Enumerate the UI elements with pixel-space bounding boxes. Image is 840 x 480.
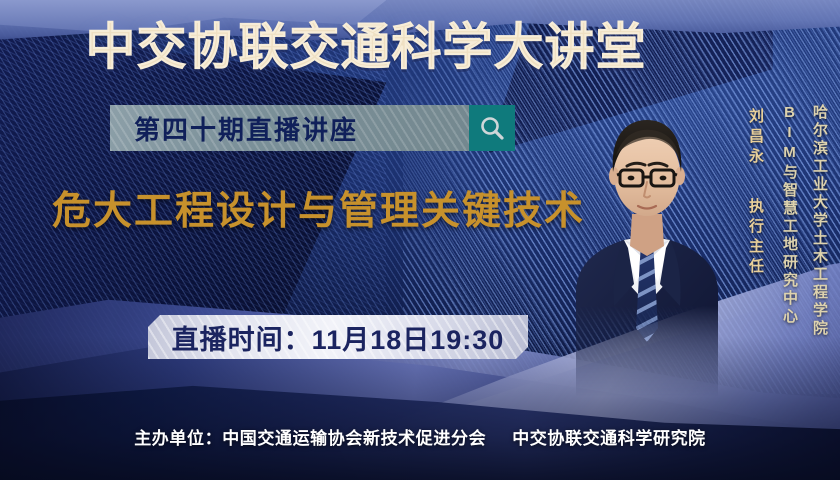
footer-organizers: 主办单位：中国交通运输协会新技术促进分会中交协联交通科学研究院: [0, 424, 840, 449]
session-banner: 第四十期直播讲座: [110, 105, 515, 151]
session-banner-bar: 第四十期直播讲座: [110, 105, 469, 151]
footer-org-2: 中交协联交通科学研究院: [512, 429, 706, 448]
speaker-photo: [572, 96, 722, 396]
search-icon-box[interactable]: [469, 105, 515, 151]
footer-prefix: 主办单位：: [134, 429, 222, 448]
broadcast-time-banner: 直播时间：11月18日19:30: [148, 315, 528, 359]
footer-org-1: 中国交通运输协会新技术促进分会: [222, 429, 486, 448]
speaker-role: 执行主任: [745, 198, 766, 278]
lecture-title: 危大工程设计与管理关键技术: [52, 188, 585, 236]
search-icon: [478, 114, 506, 142]
speaker-research-center: BIM与智慧工地研究中心: [779, 104, 800, 326]
webinar-poster: 中交协联交通科学大讲堂 第四十期直播讲座 危大工程设计与管理关键技术 直播时间：…: [0, 0, 840, 480]
speaker-name: 刘昌永: [745, 108, 766, 168]
page-title: 中交协联交通科学大讲堂: [0, 16, 732, 78]
speaker-affiliation: 哈尔滨工业大学土木工程学院: [809, 104, 830, 338]
broadcast-time-text: 直播时间：11月18日19:30: [172, 318, 505, 357]
session-label: 第四十期直播讲座: [110, 110, 358, 147]
